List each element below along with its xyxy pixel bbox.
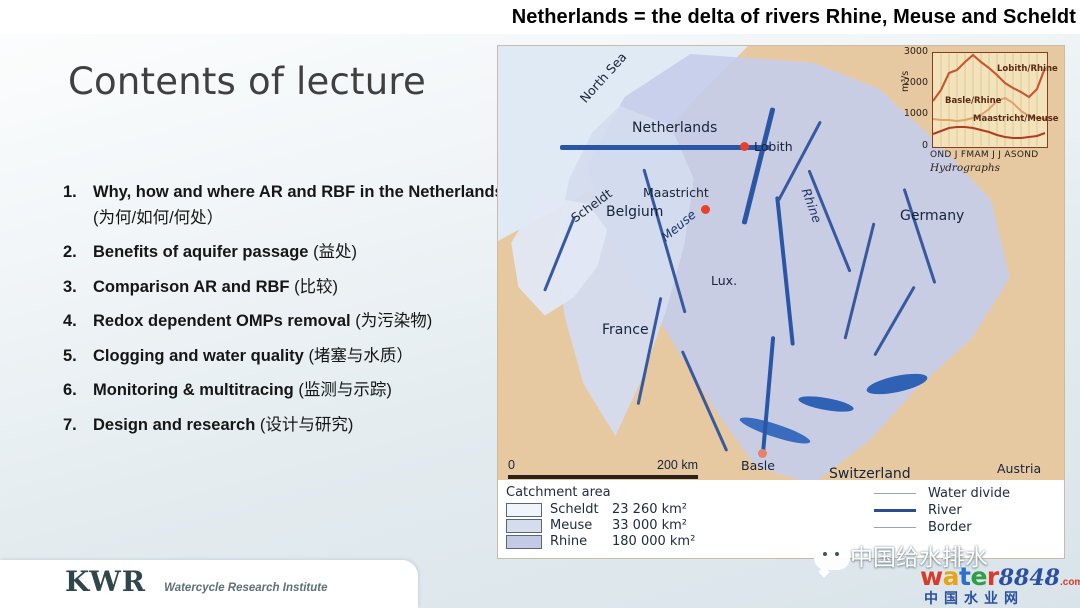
brand-letter-w: w [920, 562, 943, 591]
water8848-wordmark: water [920, 562, 999, 591]
kwr-logo: KWR Watercycle Research Institute [65, 565, 327, 598]
legend-label-border: Border [928, 520, 972, 535]
maastricht-marker [701, 205, 710, 214]
list-item-text-en: Redox dependent OMPs removal [93, 312, 355, 330]
legend-row-rhine: Rhine 180 000 km² [506, 534, 806, 549]
slide-canvas: Netherlands = the delta of rivers Rhine,… [0, 0, 1080, 608]
list-item-text: Clogging and water quality (堵塞与水质） [93, 344, 518, 370]
legend-catchment-column: Catchment area Scheldt 23 260 km² Meuse … [506, 485, 806, 553]
brand-letter-t: t [959, 562, 970, 591]
wechat-icon [814, 544, 850, 570]
x-axis-tick-labels: OND J FMAM J J ASOND [930, 150, 1050, 160]
y-tick-0: 0 [902, 140, 928, 151]
legend-row-scheldt: Scheldt 23 260 km² [506, 502, 806, 517]
list-item-text-cn: (监测与示踪) [298, 381, 392, 399]
basle-marker [758, 449, 767, 458]
wechat-eye [823, 552, 827, 556]
header-title: Netherlands = the delta of rivers Rhine,… [512, 6, 1076, 29]
map-label-lobith: Lobith [754, 139, 793, 154]
map-label-germany: Germany [900, 208, 964, 224]
list-item: 6. Monitoring & multitracing (监测与示踪) [63, 378, 518, 404]
water8848-tld: .com [1060, 577, 1080, 588]
border-line-icon [874, 527, 916, 529]
hydrograph-plot-area: Lobith/Rhine Basle/Rhine Maastricht/Meus… [932, 52, 1048, 148]
y-tick-3000: 3000 [902, 46, 928, 57]
map-scale-bar: 0 200 km [508, 458, 698, 479]
list-item-number: 3. [63, 275, 93, 301]
legend-row-river: River [874, 502, 1056, 519]
brand-letter-e: e [970, 562, 986, 591]
legend-area-scheldt: 23 260 km² [612, 502, 687, 517]
list-item-number: 2. [63, 240, 93, 266]
list-item: 2. Benefits of aquifer passage (益处) [63, 240, 518, 266]
map-label-luxembourg: Lux. [711, 273, 737, 288]
list-item-text-cn: (益处) [313, 243, 357, 261]
list-item-text-en: Design and research [93, 416, 260, 434]
list-item-text-cn: (为何/如何/何处） [93, 209, 223, 227]
list-item-text-en: Benefits of aquifer passage [93, 243, 313, 261]
legend-area-meuse: 33 000 km² [612, 518, 687, 533]
legend-label-meuse: Meuse [550, 518, 612, 533]
legend-title: Catchment area [506, 485, 806, 500]
kwr-logo-tagline: Watercycle Research Institute [164, 582, 327, 594]
wechat-eye [835, 552, 839, 556]
list-item-number: 7. [63, 413, 93, 439]
legend-label-river: River [928, 503, 962, 518]
list-item: 1. Why, how and where AR and RBF in the … [63, 180, 518, 231]
list-item-number: 1. [63, 180, 93, 206]
legend-label-rhine: Rhine [550, 534, 612, 549]
slide-header: Netherlands = the delta of rivers Rhine,… [0, 0, 1080, 34]
watermark-subtitle: 中国水业网 [924, 588, 1024, 608]
site-watermark: 中国给水排水 water8848.com 中国水业网 [820, 534, 1080, 608]
map-label-basle: Basle [741, 458, 775, 473]
list-item-number: 5. [63, 344, 93, 370]
legend-row-water-divide: Water divide [874, 485, 1056, 502]
list-item-text-cn: (为污染物) [355, 312, 432, 330]
list-item-number: 4. [63, 309, 93, 335]
list-item: 7. Design and research (设计与研究) [63, 413, 518, 439]
list-item-number: 6. [63, 378, 93, 404]
list-item-text-cn: (堵塞与水质） [308, 347, 413, 365]
series-label-lobith-rhine: Lobith/Rhine [997, 65, 1043, 74]
map-label-maastricht: Maastricht [643, 185, 709, 200]
page-title: Contents of lecture [68, 60, 426, 103]
kwr-logo-mark: KWR [65, 565, 146, 598]
hydrograph-inset-chart: 3000 2000 1000 0 m³/s [904, 50, 1056, 180]
map-label-netherlands: Netherlands [632, 120, 717, 136]
list-item-text: Benefits of aquifer passage (益处) [93, 240, 518, 266]
legend-label-water-divide: Water divide [928, 486, 1010, 501]
list-item-text-en: Clogging and water quality [93, 347, 308, 365]
lobith-marker [740, 142, 749, 151]
map-label-france: France [602, 322, 649, 338]
y-tick-1000: 1000 [902, 108, 928, 119]
list-item-text-en: Monitoring & multitracing [93, 381, 298, 399]
list-item-text-cn: (设计与研究) [260, 416, 354, 434]
series-label-basle-rhine: Basle/Rhine [945, 97, 979, 106]
legend-swatch-meuse [506, 519, 542, 533]
legend-area-rhine: 180 000 km² [612, 534, 695, 549]
list-item-text-en: Comparison AR and RBF [93, 278, 294, 296]
scale-start-label: 0 [508, 458, 515, 472]
series-label-maastricht-meuse: Maastricht/Meuse [973, 115, 1027, 124]
list-item: 5. Clogging and water quality (堵塞与水质） [63, 344, 518, 370]
river-rhine-lower [560, 145, 770, 150]
list-item-text: Redox dependent OMPs removal (为污染物) [93, 309, 518, 335]
river-line-icon [874, 509, 916, 512]
list-item-text: Comparison AR and RBF (比较) [93, 275, 518, 301]
list-item-text: Design and research (设计与研究) [93, 413, 518, 439]
brand-letter-a: a [943, 562, 959, 591]
scale-end-label: 200 km [657, 458, 698, 472]
lecture-contents-list: 1. Why, how and where AR and RBF in the … [63, 180, 518, 448]
y-axis-label: m³/s [900, 71, 911, 92]
list-item-text-en: Why, how and where AR and RBF in the Net… [93, 183, 514, 201]
water8848-logo: water8848.com [920, 562, 1080, 591]
list-item-text-cn: (比较) [294, 278, 338, 296]
map-label-austria: Austria [997, 461, 1041, 476]
legend-swatch-rhine [506, 535, 542, 549]
list-item-text: Why, how and where AR and RBF in the Net… [93, 180, 518, 231]
scale-bar-line [508, 475, 698, 479]
list-item: 3. Comparison AR and RBF (比较) [63, 275, 518, 301]
legend-row-meuse: Meuse 33 000 km² [506, 518, 806, 533]
catchment-map-image: North Sea Netherlands Lobith Maastricht … [498, 46, 1064, 558]
map-label-belgium: Belgium [606, 204, 663, 220]
water-divide-line-icon [874, 493, 916, 495]
legend-label-scheldt: Scheldt [550, 502, 612, 517]
hydrograph-caption: Hydrographs [930, 162, 1000, 174]
list-item: 4. Redox dependent OMPs removal (为污染物) [63, 309, 518, 335]
legend-swatch-scheldt [506, 503, 542, 517]
list-item-text: Monitoring & multitracing (监测与示踪) [93, 378, 518, 404]
brand-letter-r: r [987, 562, 999, 591]
